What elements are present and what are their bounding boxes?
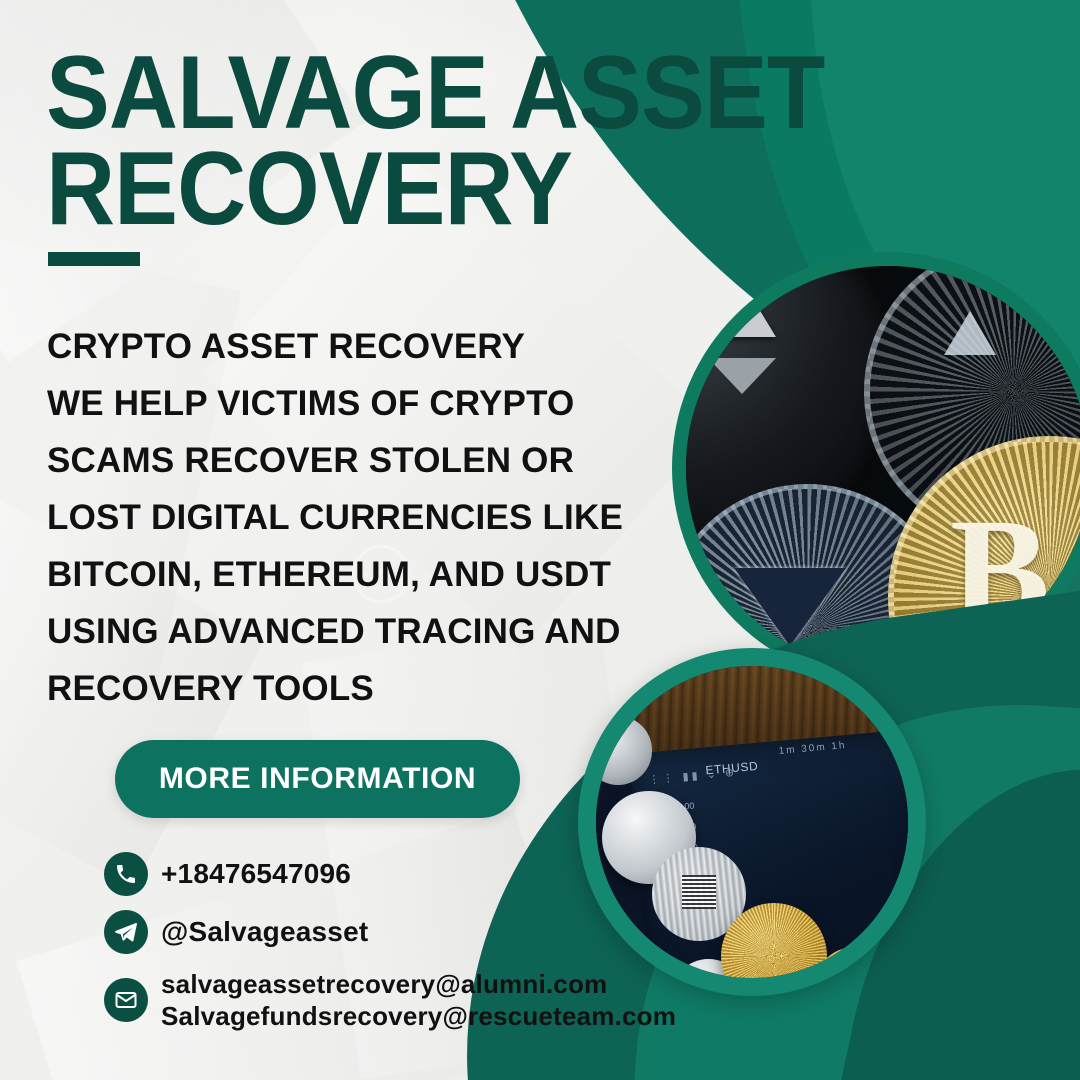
title-line-2: RECOVERY [46, 142, 653, 238]
phone-number: +18476547096 [161, 858, 351, 890]
headline-line-7: RECOVERY TOOLS [47, 660, 697, 717]
email-icon [104, 978, 148, 1022]
email-primary: salvageassetrecovery@alumni.com [161, 968, 676, 1000]
title-underline-rule [48, 252, 140, 266]
telegram-handle: @Salvageasset [161, 916, 368, 948]
telegram-icon [104, 910, 148, 954]
headline-line-1: CRYPTO ASSET RECOVERY [47, 318, 697, 375]
poster-canvas: B ⋮⋮ ▮▮ ⌄ ⊕ ETHUSD 1m 30m 1h 45400.00 45… [0, 0, 1080, 1080]
page-title: SALVAGE ASSET RECOVERY [46, 46, 653, 237]
phone-icon [104, 852, 148, 896]
content-layer: SALVAGE ASSET RECOVERY CRYPTO ASSET RECO… [0, 0, 1080, 1080]
headline-line-6: USING ADVANCED TRACING AND [47, 603, 697, 660]
contact-list: +18476547096 @Salvageasset [104, 852, 704, 1032]
contact-row-telegram[interactable]: @Salvageasset [104, 910, 704, 954]
more-information-button[interactable]: MORE INFORMATION [115, 740, 520, 818]
headline-copy: CRYPTO ASSET RECOVERY WE HELP VICTIMS OF… [47, 318, 697, 717]
email-secondary: Salvagefundsrecovery@rescueteam.com [161, 1000, 676, 1032]
contact-row-phone[interactable]: +18476547096 [104, 852, 704, 896]
headline-line-4: LOST DIGITAL CURRENCIES LIKE [47, 489, 697, 546]
headline-line-3: SCAMS RECOVER STOLEN OR [47, 432, 697, 489]
headline-line-2: WE HELP VICTIMS OF CRYPTO [47, 375, 697, 432]
contact-row-email[interactable]: salvageassetrecovery@alumni.com Salvagef… [104, 968, 704, 1032]
email-addresses: salvageassetrecovery@alumni.com Salvagef… [161, 968, 676, 1032]
title-line-1: SALVAGE ASSET [46, 46, 653, 142]
headline-line-5: BITCOIN, ETHEREUM, AND USDT [47, 546, 697, 603]
